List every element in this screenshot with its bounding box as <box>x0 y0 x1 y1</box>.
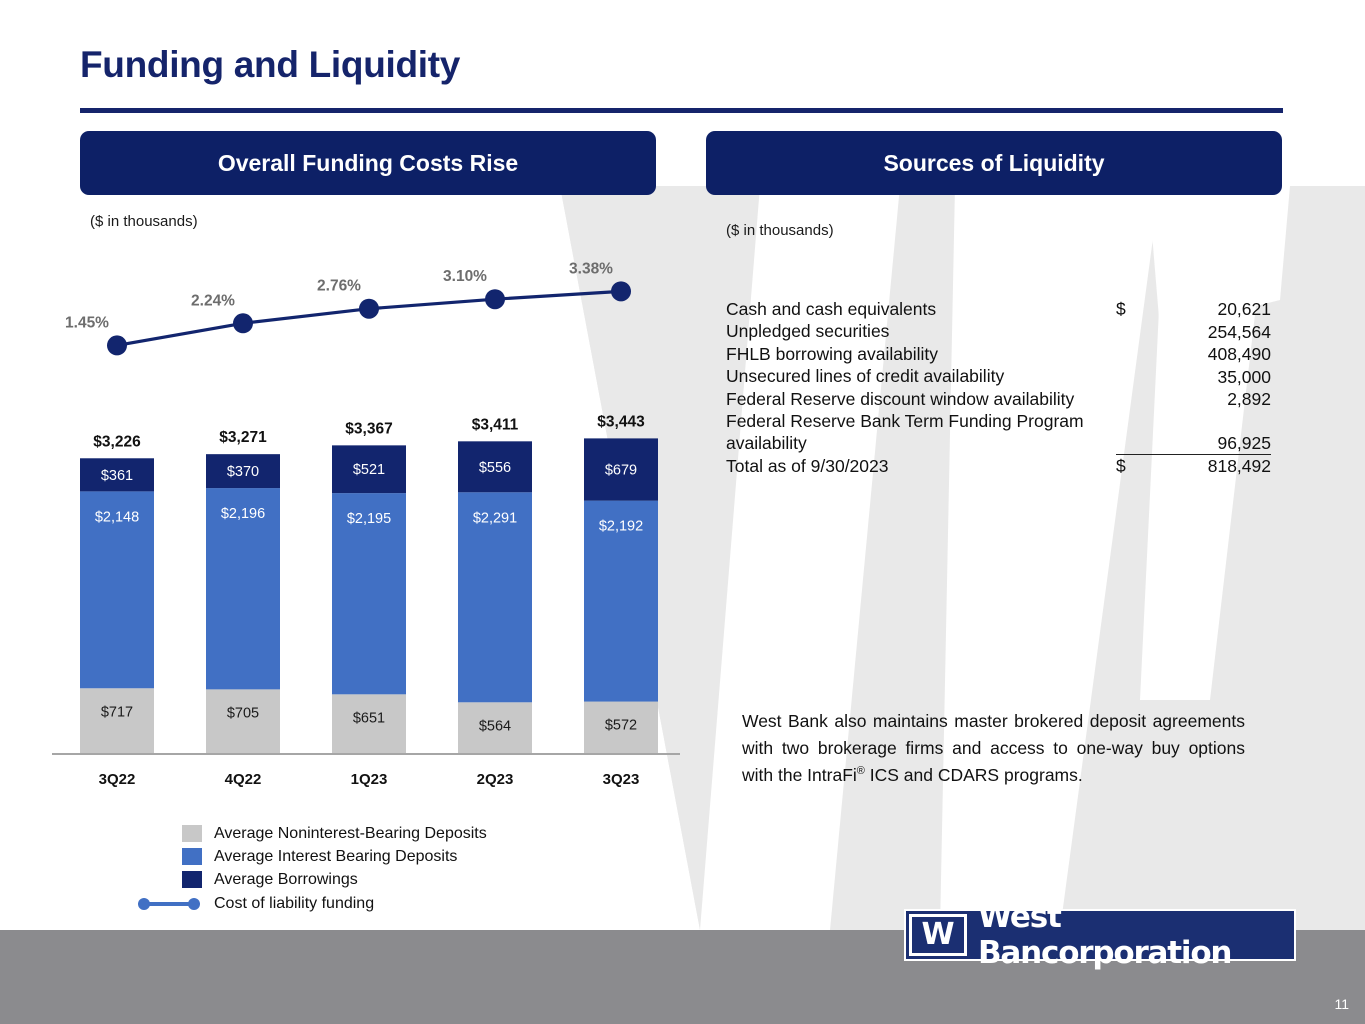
brand-logo: W West Bancorporation <box>904 909 1296 961</box>
liquidity-row-label: Cash and cash equivalents <box>726 298 1116 320</box>
x-axis-tick-label: 3Q23 <box>603 771 640 788</box>
legend-swatch-gray <box>182 825 202 842</box>
bar-segment-label: $705 <box>227 705 259 721</box>
page-number: 11 <box>1334 996 1349 1012</box>
liquidity-row-value: 20,621 <box>1156 298 1271 320</box>
bar-total-label: $3,367 <box>345 420 392 437</box>
legend-line-marker-icon <box>136 897 202 911</box>
bar-segment <box>206 689 280 754</box>
bar-segment-label: $370 <box>227 464 259 480</box>
liquidity-row-label: FHLB borrowing availability <box>726 343 1116 365</box>
legend-label: Average Interest Bearing Deposits <box>214 848 457 866</box>
liquidity-row-label: Unsecured lines of credit availability <box>726 365 1116 387</box>
funding-costs-chart: $717$2,148$361$3,2263Q22$705$2,196$370$3… <box>44 236 684 796</box>
bar-segment-label: $564 <box>479 718 511 734</box>
chart-legend: Average Noninterest-Bearing Deposits Ave… <box>182 822 487 917</box>
bar-total-label: $3,411 <box>472 416 519 433</box>
line-data-point <box>107 335 127 355</box>
bar-total-label: $3,271 <box>219 429 267 446</box>
legend-label: Cost of liability funding <box>214 895 374 913</box>
liquidity-row-label: Federal Reserve Bank Term Funding Progra… <box>726 410 1116 455</box>
bar-segment-label: $521 <box>353 462 385 478</box>
line-data-point <box>611 281 631 301</box>
table-row: Unpledged securities254,564 <box>726 320 1271 342</box>
liquidity-row-value: 2,892 <box>1156 388 1271 410</box>
line-data-point <box>359 299 379 319</box>
bar-segment-label: $2,148 <box>95 509 139 525</box>
brand-name: West Bancorporation <box>970 911 1294 959</box>
table-row: Federal Reserve Bank Term Funding Progra… <box>726 410 1271 455</box>
registered-trademark-icon: ® <box>857 765 865 777</box>
bar-total-label: $3,443 <box>597 413 645 430</box>
liquidity-row-label: Federal Reserve discount window availabi… <box>726 388 1116 410</box>
legend-item-cost-of-liability-funding: Cost of liability funding <box>136 891 487 917</box>
bar-segment-label: $2,192 <box>599 519 643 535</box>
bar-segment-label: $556 <box>479 460 511 476</box>
x-axis-tick-label: 1Q23 <box>351 771 388 788</box>
liquidity-row-currency <box>1116 343 1156 365</box>
liquidity-row-value: 818,492 <box>1156 455 1271 477</box>
liquidity-note-paragraph: West Bank also maintains master brokered… <box>742 708 1245 789</box>
liquidity-row-value: 408,490 <box>1156 343 1271 365</box>
legend-item-noninterest-bearing: Average Noninterest-Bearing Deposits <box>182 822 487 845</box>
bar-segment-label: $2,196 <box>221 506 265 522</box>
logo-mark-letter: W <box>921 920 954 950</box>
logo-w-mark-icon: W <box>909 914 967 956</box>
bar-segment <box>80 688 154 754</box>
liquidity-row-value: 254,564 <box>1156 320 1271 342</box>
sources-of-liquidity-table: Cash and cash equivalents$20,621Unpledge… <box>726 298 1271 477</box>
bar-segment-label: $361 <box>101 468 133 484</box>
title-divider <box>80 108 1283 113</box>
line-data-point <box>233 313 253 333</box>
line-point-label: 3.38% <box>569 260 613 277</box>
table-row: FHLB borrowing availability408,490 <box>726 343 1271 365</box>
bar-total-label: $3,226 <box>93 433 141 450</box>
table-row: Federal Reserve discount window availabi… <box>726 388 1271 410</box>
liquidity-row-currency: $ <box>1116 298 1156 320</box>
liquidity-row-currency <box>1116 365 1156 387</box>
liquidity-row-value: 96,925 <box>1156 410 1271 455</box>
x-axis-tick-label: 2Q23 <box>477 771 514 788</box>
liquidity-row-currency <box>1116 388 1156 410</box>
x-axis-tick-label: 4Q22 <box>225 771 262 788</box>
note-text-part2: ICS and CDARS programs. <box>865 765 1083 785</box>
panel-header-funding-costs: Overall Funding Costs Rise <box>80 131 656 195</box>
liquidity-row-currency <box>1116 320 1156 342</box>
legend-label: Average Borrowings <box>214 871 358 889</box>
legend-label: Average Noninterest-Bearing Deposits <box>214 825 487 843</box>
bar-segment-label: $2,195 <box>347 511 391 527</box>
legend-item-borrowings: Average Borrowings <box>182 868 487 891</box>
line-data-point <box>485 289 505 309</box>
liquidity-row-currency: $ <box>1116 455 1156 477</box>
table-row: Unsecured lines of credit availability35… <box>726 365 1271 387</box>
left-panel-units-caption: ($ in thousands) <box>90 213 198 230</box>
line-point-label: 2.24% <box>191 292 235 309</box>
table-row: Cash and cash equivalents$20,621 <box>726 298 1271 320</box>
page-title: Funding and Liquidity <box>80 44 460 86</box>
bar-segment-label: $651 <box>353 710 385 726</box>
bar-segment-label: $679 <box>605 463 637 479</box>
liquidity-row-currency <box>1116 410 1156 455</box>
bar-segment-label: $717 <box>101 704 133 720</box>
liquidity-row-label: Unpledged securities <box>726 320 1116 342</box>
legend-swatch-blue <box>182 848 202 865</box>
line-point-label: 1.45% <box>65 314 109 331</box>
bar-segment-label: $572 <box>605 718 637 734</box>
x-axis-tick-label: 3Q22 <box>99 771 136 788</box>
legend-swatch-navy <box>182 871 202 888</box>
panel-header-sources-liquidity: Sources of Liquidity <box>706 131 1282 195</box>
liquidity-row-value: 35,000 <box>1156 365 1271 387</box>
table-row: Total as of 9/30/2023$818,492 <box>726 455 1271 477</box>
right-panel-units-caption: ($ in thousands) <box>726 222 834 239</box>
liquidity-row-label: Total as of 9/30/2023 <box>726 455 1116 477</box>
legend-item-interest-bearing: Average Interest Bearing Deposits <box>182 845 487 868</box>
line-point-label: 2.76% <box>317 278 361 295</box>
line-point-label: 3.10% <box>443 268 487 285</box>
bar-segment-label: $2,291 <box>473 510 517 526</box>
